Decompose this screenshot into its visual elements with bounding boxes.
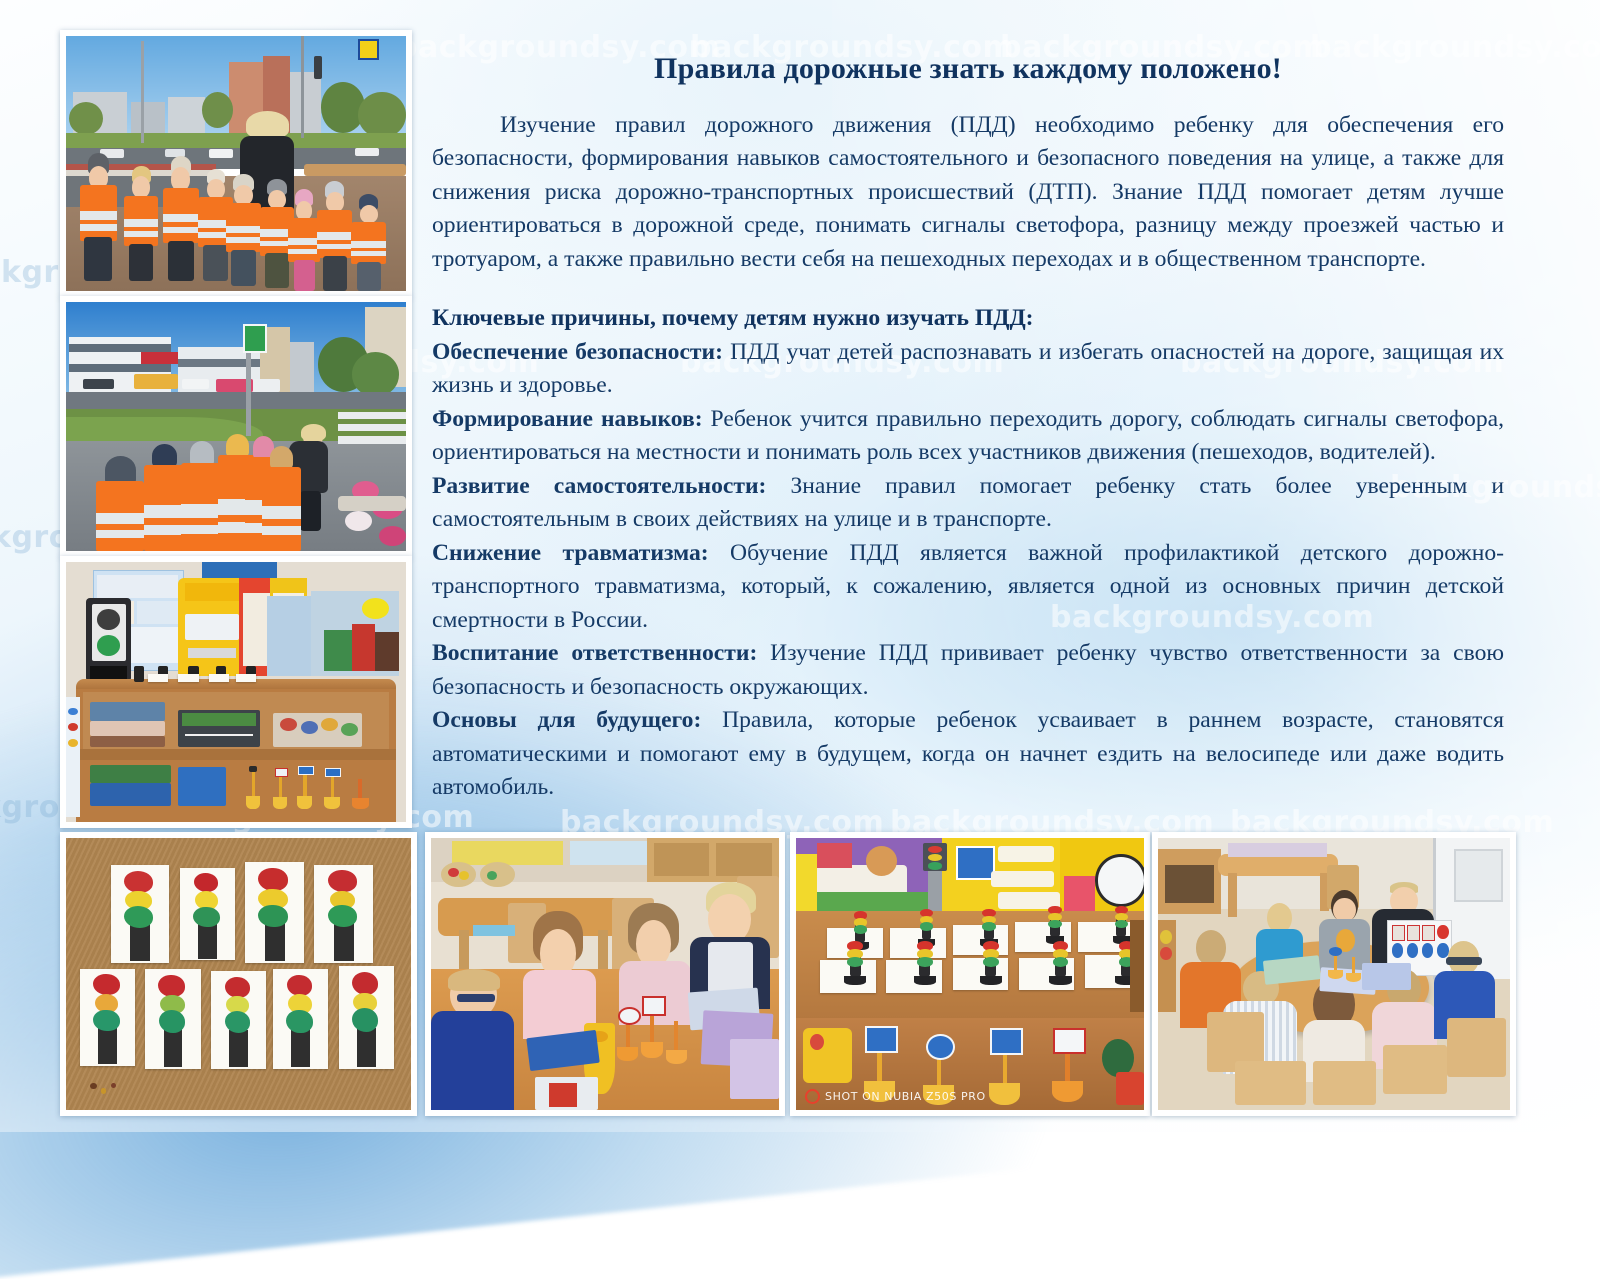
reason-lead: Формирование навыков: (432, 406, 703, 432)
camera-ring-icon (805, 1089, 820, 1104)
photo-safety-corner (60, 556, 412, 828)
reason-lead: Развитие самостоятельности: (432, 473, 766, 499)
photo-table-game (425, 832, 785, 1116)
section-heading: Ключевые причины, почему детям нужно изу… (432, 302, 1504, 336)
reason-item: Развитие самостоятельности: Знание прави… (432, 470, 1504, 537)
photo-crosswalk-lesson (60, 296, 412, 557)
photo-group-street (60, 30, 412, 297)
intro-paragraph: Изучение правил дорожного движения (ПДД)… (432, 109, 1504, 277)
reason-lead: Обеспечение безопасности: (432, 339, 723, 365)
reason-lead: Воспитание ответственности: (432, 640, 757, 666)
reason-item: Обеспечение безопасности: ПДД учат детей… (432, 336, 1504, 403)
photo-group-lesson (1152, 832, 1516, 1116)
reason-item: Основы для будущего: Правила, которые ре… (432, 704, 1504, 805)
text-column: Правила дорожные знать каждому положено!… (432, 52, 1504, 805)
reason-item: Снижение травматизма: Обучение ПДД являе… (432, 537, 1504, 638)
reason-lead: Снижение травматизма: (432, 540, 709, 566)
photo-traffic-light-drawings (60, 832, 417, 1116)
camera-watermark-text: SHOT ON NUBIA Z50S PRO (825, 1090, 986, 1103)
reason-item: Формирование навыков: Ребенок учится пра… (432, 403, 1504, 470)
reason-lead: Основы для будущего: (432, 707, 701, 733)
camera-watermark: SHOT ON NUBIA Z50S PRO (805, 1089, 986, 1104)
poster-page: Правила дорожные знать каждому положено!… (0, 0, 1600, 1132)
page-title: Правила дорожные знать каждому положено! (432, 52, 1504, 87)
photo-plasticine-lights: SHOT ON NUBIA Z50S PRO (790, 832, 1150, 1116)
reason-item: Воспитание ответственности: Изучение ПДД… (432, 637, 1504, 704)
